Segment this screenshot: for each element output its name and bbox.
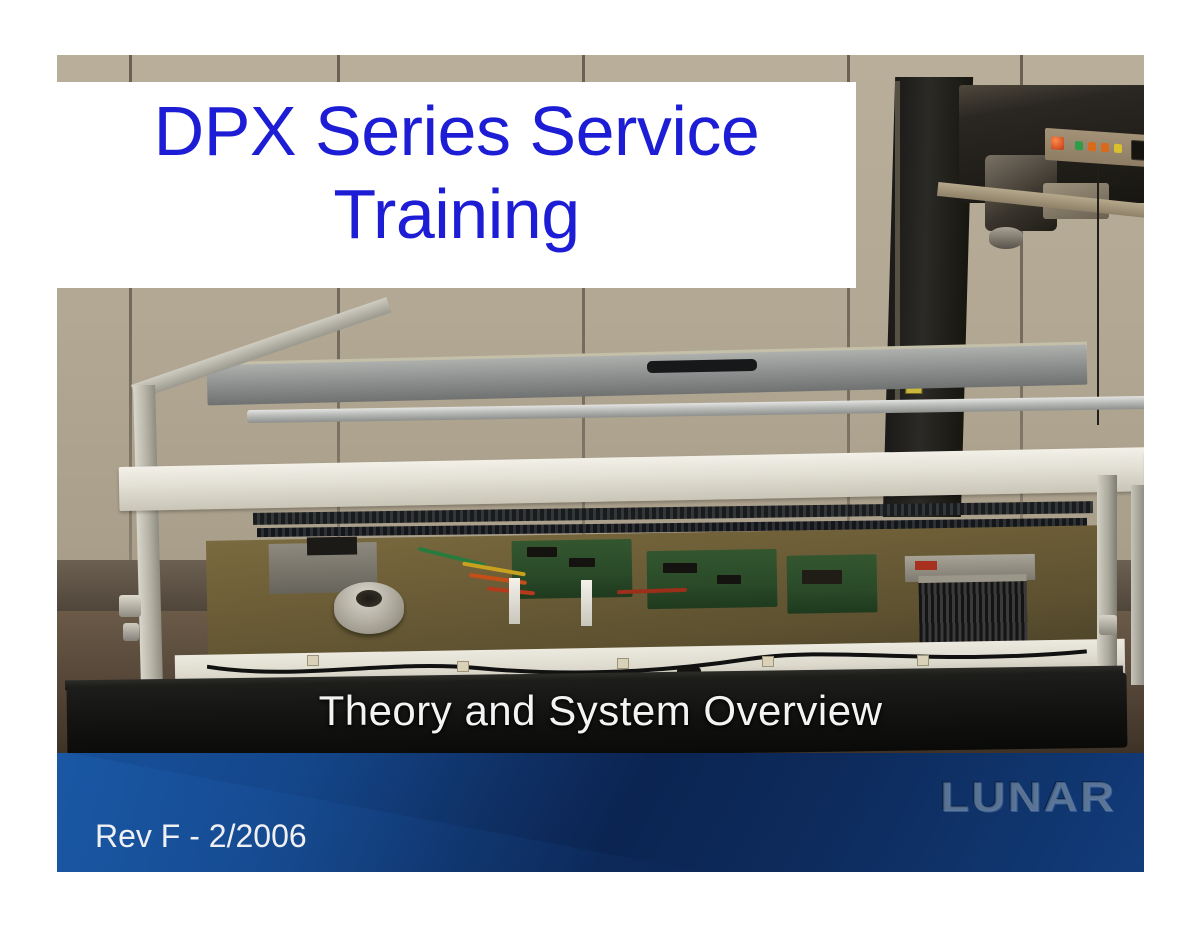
leveling-foot bbox=[119, 595, 141, 617]
presentation-slide: Theory and System Overview DPX Series Se… bbox=[0, 0, 1200, 927]
cable-clip bbox=[457, 661, 469, 672]
transformer-core-hole bbox=[356, 590, 382, 607]
footer-band: Rev F - 2/2006 LUNAR bbox=[57, 753, 1144, 872]
shield-plate bbox=[509, 578, 520, 624]
component-block bbox=[527, 547, 557, 557]
component-block bbox=[717, 575, 741, 584]
cable-clip bbox=[917, 655, 929, 666]
circuit-board bbox=[787, 554, 878, 614]
slide-subtitle: Theory and System Overview bbox=[57, 687, 1144, 735]
lunar-logo: LUNAR bbox=[940, 773, 1116, 821]
heat-sink bbox=[918, 574, 1027, 643]
rail-slot bbox=[647, 359, 757, 373]
cable-clip bbox=[617, 658, 629, 669]
title-box: DPX Series Service Training bbox=[57, 82, 856, 288]
arm-cable bbox=[1097, 155, 1099, 425]
shield-plate bbox=[581, 580, 592, 626]
frame-post-right-outer bbox=[1131, 485, 1144, 685]
cable-clip bbox=[762, 656, 774, 667]
page-title-line-2: Training bbox=[333, 173, 579, 256]
red-warning-label bbox=[915, 561, 937, 570]
component-block bbox=[802, 570, 842, 584]
power-supply-top-block bbox=[307, 537, 357, 556]
emergency-stop-icon bbox=[1051, 136, 1064, 150]
status-led-green-icon bbox=[1075, 141, 1083, 151]
component-block bbox=[569, 558, 595, 567]
leveling-foot bbox=[1099, 615, 1117, 635]
toroidal-transformer bbox=[334, 582, 404, 634]
circuit-board bbox=[647, 549, 778, 609]
component-block bbox=[663, 563, 697, 573]
collimator-assembly bbox=[989, 227, 1023, 249]
status-led-yellow-icon bbox=[1114, 144, 1122, 154]
page-title-line-1: DPX Series Service bbox=[154, 90, 760, 173]
cable-clip bbox=[307, 655, 319, 666]
status-led-orange-icon bbox=[1088, 142, 1096, 152]
revision-text: Rev F - 2/2006 bbox=[95, 818, 307, 855]
status-led-orange-icon bbox=[1101, 143, 1109, 153]
leveling-foot bbox=[123, 623, 139, 641]
panel-button-icon bbox=[1131, 140, 1144, 162]
